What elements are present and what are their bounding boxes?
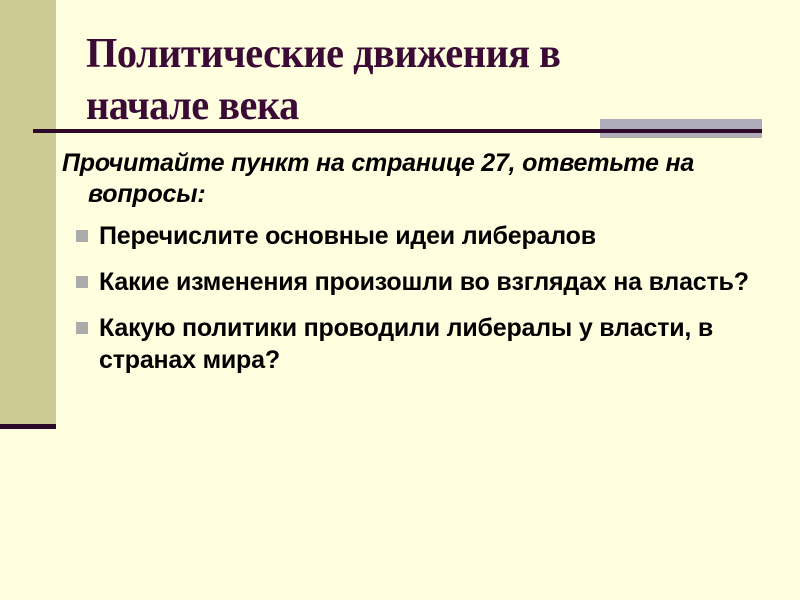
list-item: Какую политики проводили либералы у влас… <box>62 312 779 376</box>
square-bullet-icon <box>76 230 88 242</box>
square-bullet-icon <box>76 322 88 334</box>
slide-title: Политические движения в начале века <box>86 28 720 132</box>
left-band-underline <box>0 424 56 429</box>
slide-body: Прочитайте пункт на странице 27, ответьт… <box>62 148 762 376</box>
list-item-label: Перечислите основные идеи либералов <box>99 222 596 250</box>
list-item-label: Какие изменения произошли во взглядах на… <box>99 268 749 296</box>
question-bullet-list: Перечислите основные идеи либералов Каки… <box>62 220 762 376</box>
square-bullet-icon <box>76 276 88 288</box>
presentation-slide: Политические движения в начале века Проч… <box>0 0 800 600</box>
list-item-label: Какую политики проводили либералы у влас… <box>99 314 713 374</box>
left-olive-band <box>0 0 56 424</box>
list-item: Перечислите основные идеи либералов <box>62 220 779 252</box>
lead-instruction-text: Прочитайте пункт на странице 27, ответьт… <box>62 148 698 210</box>
list-item: Какие изменения произошли во взглядах на… <box>62 266 779 298</box>
